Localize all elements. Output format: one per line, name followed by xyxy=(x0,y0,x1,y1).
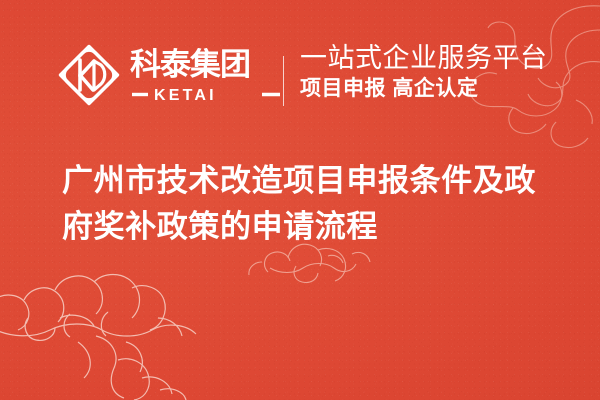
tagline-primary: 一站式企业服务平台 xyxy=(300,42,560,74)
page-title: 广州市技术改造项目申报条件及政府奖补政策的申请流程 xyxy=(62,158,540,250)
brand-wordmark: 科泰集团 KETAI xyxy=(130,48,282,103)
tagline-secondary: 项目申报 高企认定 xyxy=(300,76,560,102)
promo-banner: 科泰集团 KETAI 一站式企业服务平台 项目申报 高企认定 广州市技术改造项目… xyxy=(0,0,600,400)
brand-logo[interactable]: 科泰集团 KETAI xyxy=(58,44,282,106)
brand-name-en-text: KETAI xyxy=(154,87,217,103)
banner-header: 科泰集团 KETAI 一站式企业服务平台 项目申报 高企认定 xyxy=(0,0,600,140)
brand-name-en-icon: KETAI xyxy=(130,85,282,103)
brand-name-cn-text: 科泰集团 xyxy=(130,48,250,82)
ketai-kp-diamond-emblem-icon xyxy=(58,44,120,106)
header-divider xyxy=(283,56,284,106)
brand-name-cn-icon: 科泰集团 xyxy=(130,48,282,82)
header-tagline: 一站式企业服务平台 项目申报 高企认定 xyxy=(300,42,560,102)
